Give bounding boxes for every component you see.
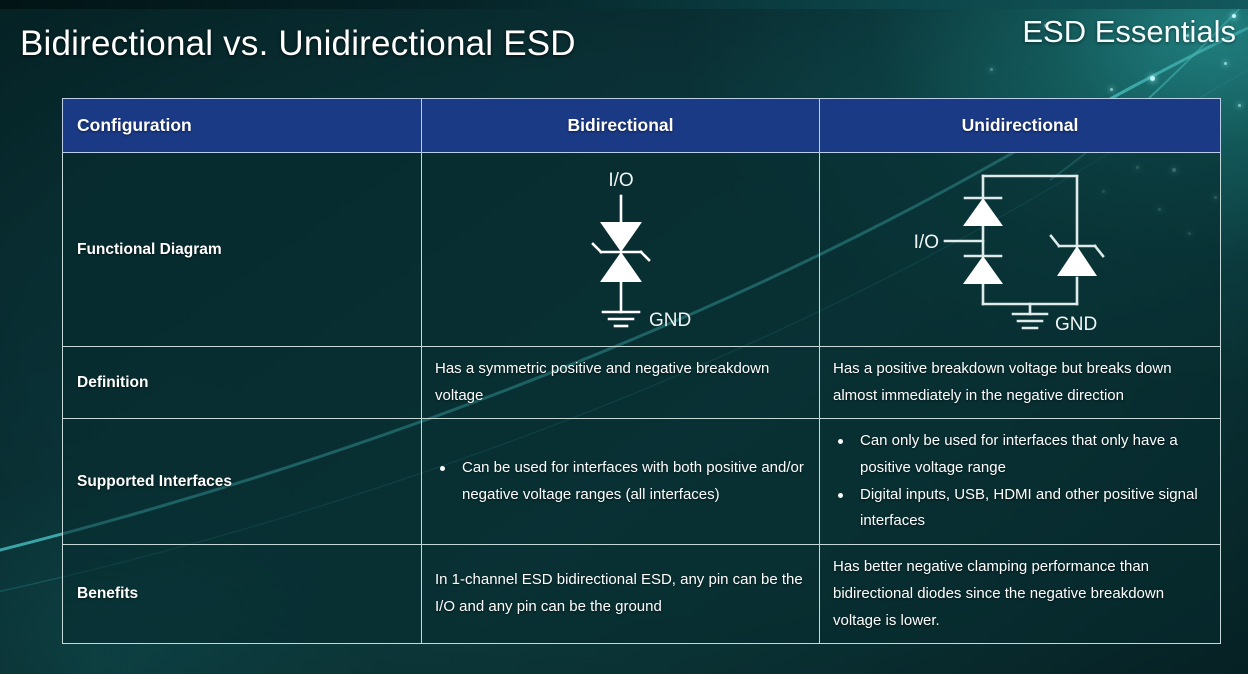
column-header-unidirectional: Unidirectional: [820, 99, 1221, 153]
bullet-dot-icon: [440, 466, 445, 471]
star-dot: [1238, 104, 1241, 107]
cell-bidirectional-diagram: I/O GND: [422, 153, 820, 347]
star-dot: [1224, 62, 1227, 65]
steering-diode-lower-triangle: [963, 256, 1003, 284]
table-header-row: Configuration Bidirectional Unidirection…: [63, 99, 1221, 153]
list-item: Can only be used for interfaces that onl…: [833, 428, 1208, 481]
table-row: Supported Interfaces Can be used for int…: [63, 419, 1221, 545]
bidirectional-tvs-diode-schematic: I/O GND: [521, 160, 721, 340]
cell-paragraph: Has a symmetric positive and negative br…: [435, 356, 807, 409]
star-dot: [1150, 76, 1155, 81]
column-header-bidirectional: Bidirectional: [422, 99, 820, 153]
background-top-strip: [0, 0, 1248, 9]
list-item-label: Can be used for interfaces with both pos…: [462, 459, 804, 503]
bullet-list: Can be used for interfaces with both pos…: [435, 455, 807, 508]
cell-benefits-unidirectional: Has better negative clamping performance…: [820, 545, 1221, 644]
row-label-benefits: Benefits: [63, 545, 422, 644]
bullet-dot-icon: [838, 439, 843, 444]
cell-unidirectional-diagram: I/O GND: [820, 153, 1221, 347]
list-item-label: Digital inputs, USB, HDMI and other posi…: [860, 486, 1198, 530]
cell-paragraph: Has a positive breakdown voltage but bre…: [833, 356, 1208, 409]
table-header: Configuration Bidirectional Unidirection…: [63, 99, 1221, 153]
cell-paragraph: In 1-channel ESD bidirectional ESD, any …: [435, 567, 807, 620]
column-header-configuration: Configuration: [63, 99, 422, 153]
gnd-label: GND: [1055, 314, 1097, 335]
table-row: Definition Has a symmetric positive and …: [63, 347, 1221, 419]
diode-triangle-up: [600, 252, 642, 282]
row-label-functional-diagram: Functional Diagram: [63, 153, 422, 347]
slide-canvas: Bidirectional vs. Unidirectional ESD ESD…: [0, 0, 1248, 674]
page-title: Bidirectional vs. Unidirectional ESD: [20, 24, 576, 64]
deck-label: ESD Essentials: [1022, 14, 1236, 50]
bullet-list: Can only be used for interfaces that onl…: [833, 428, 1208, 535]
cell-definition-unidirectional: Has a positive breakdown voltage but bre…: [820, 347, 1221, 419]
list-item: Can be used for interfaces with both pos…: [435, 455, 807, 508]
list-item: Digital inputs, USB, HDMI and other posi…: [833, 482, 1208, 535]
table-row: Benefits In 1-channel ESD bidirectional …: [63, 545, 1221, 644]
io-label: I/O: [608, 170, 633, 191]
row-label-supported-interfaces: Supported Interfaces: [63, 419, 422, 545]
star-dot: [990, 68, 993, 71]
row-label-definition: Definition: [63, 347, 422, 419]
cell-definition-bidirectional: Has a symmetric positive and negative br…: [422, 347, 820, 419]
table-row: Functional Diagram: [63, 153, 1221, 347]
zener-diode-triangle: [1057, 246, 1097, 276]
cell-paragraph: Has better negative clamping performance…: [833, 554, 1208, 634]
esd-comparison-table: Configuration Bidirectional Unidirection…: [62, 98, 1221, 644]
cell-supported-interfaces-bidirectional: Can be used for interfaces with both pos…: [422, 419, 820, 545]
cell-benefits-bidirectional: In 1-channel ESD bidirectional ESD, any …: [422, 545, 820, 644]
gnd-label: GND: [649, 310, 691, 331]
steering-diode-upper-triangle: [963, 198, 1003, 226]
table-body: Functional Diagram: [63, 153, 1221, 644]
star-dot: [1110, 88, 1113, 91]
diode-triangle-down: [600, 222, 642, 252]
unidirectional-esd-schematic: I/O GND: [905, 160, 1135, 340]
cell-supported-interfaces-unidirectional: Can only be used for interfaces that onl…: [820, 419, 1221, 545]
io-label: I/O: [914, 232, 939, 253]
list-item-label: Can only be used for interfaces that onl…: [860, 432, 1178, 476]
bullet-dot-icon: [838, 493, 843, 498]
